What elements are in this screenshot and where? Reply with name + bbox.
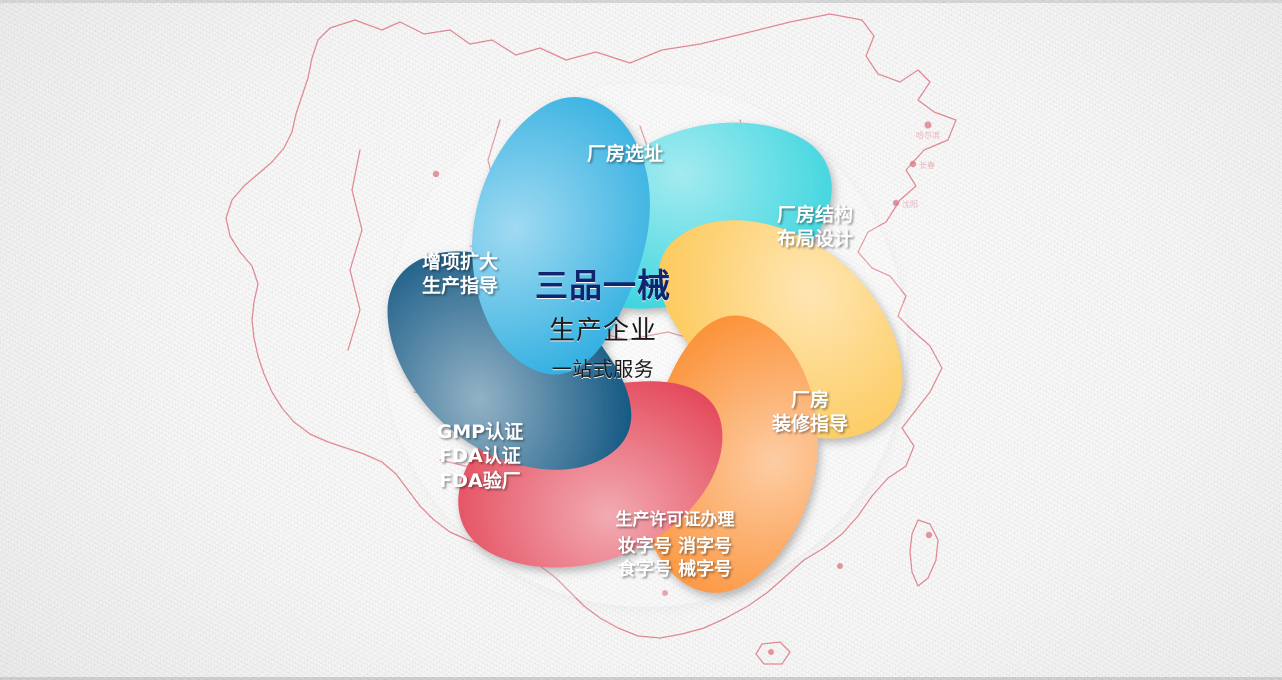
infographic-canvas: 哈尔滨 长春 沈阳 bbox=[0, 0, 1282, 680]
pinwheel-diagram bbox=[345, 55, 945, 635]
